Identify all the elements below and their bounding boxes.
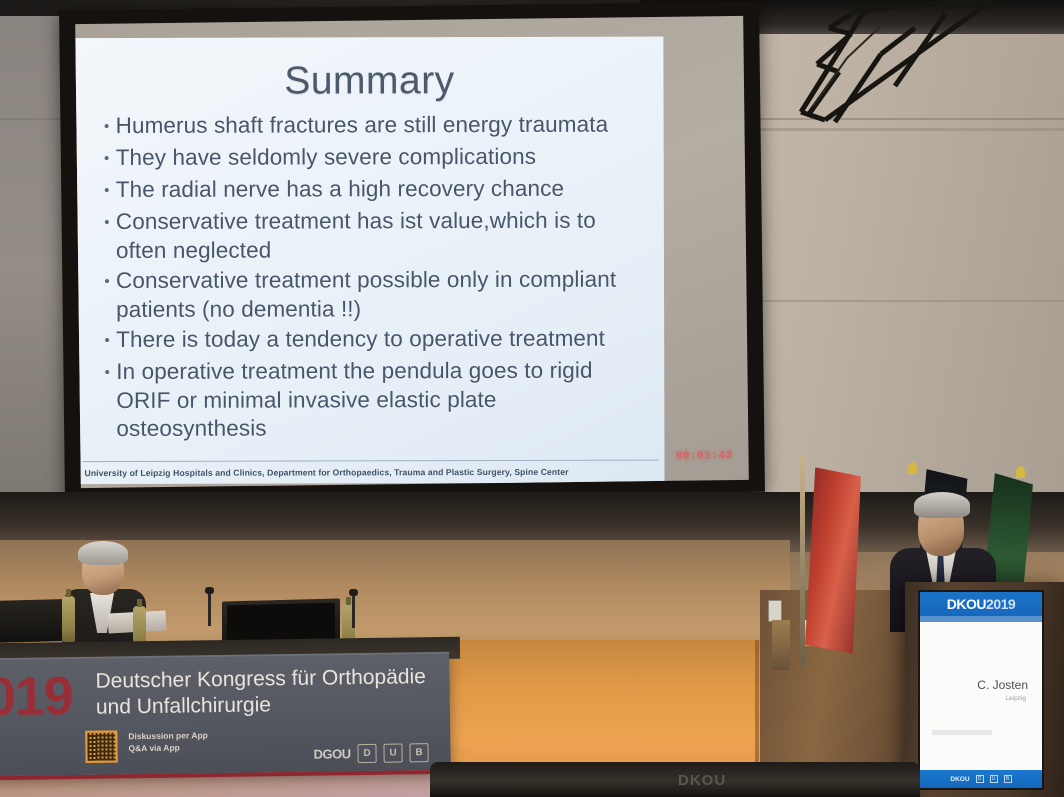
presentation-timer: 00:01:43 — [676, 450, 733, 463]
slide-footer: University of Leipzig Hospitals and Clin… — [84, 467, 656, 478]
app-line-1: Diskussion per App — [128, 730, 208, 743]
flag-pole — [800, 455, 805, 665]
podium-placeholder-line — [932, 730, 992, 735]
list-item: • Conservative treatment possible only i… — [98, 266, 650, 324]
podium-speaker-name: C. Josten — [977, 678, 1028, 692]
bullet-dot-icon: • — [98, 358, 116, 388]
bullet-text: In operative treatment the pendula goes … — [116, 357, 650, 444]
bullet-dot-icon: • — [98, 176, 116, 206]
list-item: • There is today a tendency to operative… — [98, 325, 650, 356]
foreground-lectern: DKOU — [430, 762, 920, 797]
banner-title-line1: Deutscher Kongress für Orthopädie — [95, 664, 445, 695]
banner-year: 019 — [0, 665, 73, 728]
podium-brand: DKOU2019 — [947, 596, 1015, 612]
bullet-text: They have seldomly severe complications — [116, 143, 536, 173]
lighting-truss-icon — [795, 0, 1005, 134]
flag-finial-icon — [1016, 466, 1025, 478]
bullet-dot-icon: • — [98, 326, 116, 356]
list-item: • They have seldomly severe complication… — [98, 143, 650, 174]
bullet-text: The radial nerve has a high recovery cha… — [116, 175, 564, 205]
banner-title-line2: und Unfallchirurgie — [96, 690, 446, 721]
conference-banner: 019 Deutscher Kongress für Orthopädie un… — [0, 652, 451, 776]
app-line-2: Q&A via App — [128, 742, 208, 755]
bullet-text: Conservative treatment has ist value,whi… — [116, 207, 650, 265]
wall-seam — [760, 300, 1064, 302]
small-pillar — [772, 620, 790, 670]
wall-fixture — [768, 600, 782, 622]
microphone-icon — [352, 594, 355, 628]
banner-app-text: Diskussion per App Q&A via App — [128, 730, 208, 754]
lecture-hall-scene: Summary • Humerus shaft fractures are st… — [0, 0, 1064, 797]
bullet-text: There is today a tendency to operative t… — [116, 325, 605, 355]
podium-monitor-body: C. Josten Leipzig — [920, 622, 1042, 770]
list-item: • The radial nerve has a high recovery c… — [98, 175, 650, 206]
bullet-dot-icon: • — [98, 208, 116, 238]
podium-speaker-affiliation: Leipzig — [1005, 695, 1026, 702]
wall-seam — [755, 640, 759, 770]
podium-monitor-footer: DKOU D U B — [920, 770, 1042, 788]
laptop — [0, 599, 64, 643]
slide-title: Summary — [75, 59, 663, 105]
list-item: • Humerus shaft fractures are still ener… — [98, 111, 650, 142]
slide-footer-divider — [82, 460, 658, 463]
partner-logo-icon: B — [409, 743, 428, 762]
list-item: • Conservative treatment has ist value,w… — [98, 207, 650, 265]
podium-footer-brand: DKOU — [950, 776, 969, 783]
partner-logo-icon: D — [976, 775, 984, 783]
podium-monitor-header: DKOU2019 — [920, 592, 1042, 616]
partner-logo-icon: U — [383, 743, 402, 762]
speaker-podium: DKOU2019 C. Josten Leipzig DKOU D U B — [905, 582, 1064, 797]
bullet-dot-icon: • — [98, 112, 116, 142]
water-bottle — [62, 596, 75, 642]
flag-finial-icon — [908, 462, 917, 474]
banner-title: Deutscher Kongress für Orthopädie und Un… — [95, 664, 446, 721]
bullet-text: Humerus shaft fractures are still energy… — [116, 111, 609, 141]
chairperson-hair — [78, 541, 128, 565]
microphone-icon — [208, 592, 211, 626]
slide-bullet-list: • Humerus shaft fractures are still ener… — [76, 111, 665, 444]
qr-code-icon — [85, 730, 117, 762]
presentation-slide: Summary • Humerus shaft fractures are st… — [75, 37, 664, 485]
speaker-hair — [914, 492, 970, 518]
list-item: • In operative treatment the pendula goe… — [98, 357, 650, 444]
lectern-label: DKOU — [678, 772, 726, 789]
projection-screen-surface: Summary • Humerus shaft fractures are st… — [75, 16, 749, 488]
bullet-text: Conservative treatment possible only in … — [116, 266, 650, 324]
bullet-dot-icon: • — [98, 267, 116, 297]
dgou-logo: DGOU — [313, 746, 350, 762]
partner-logo-icon: B — [1004, 775, 1012, 783]
projection-screen-frame: Summary • Humerus shaft fractures are st… — [59, 2, 765, 501]
bullet-dot-icon: • — [98, 144, 116, 174]
podium-monitor: DKOU2019 C. Josten Leipzig DKOU D U B — [918, 590, 1044, 790]
partner-logo-icon: U — [990, 775, 998, 783]
banner-logo-group: DGOU D U B — [313, 743, 428, 764]
partner-logo-icon: D — [357, 744, 376, 763]
